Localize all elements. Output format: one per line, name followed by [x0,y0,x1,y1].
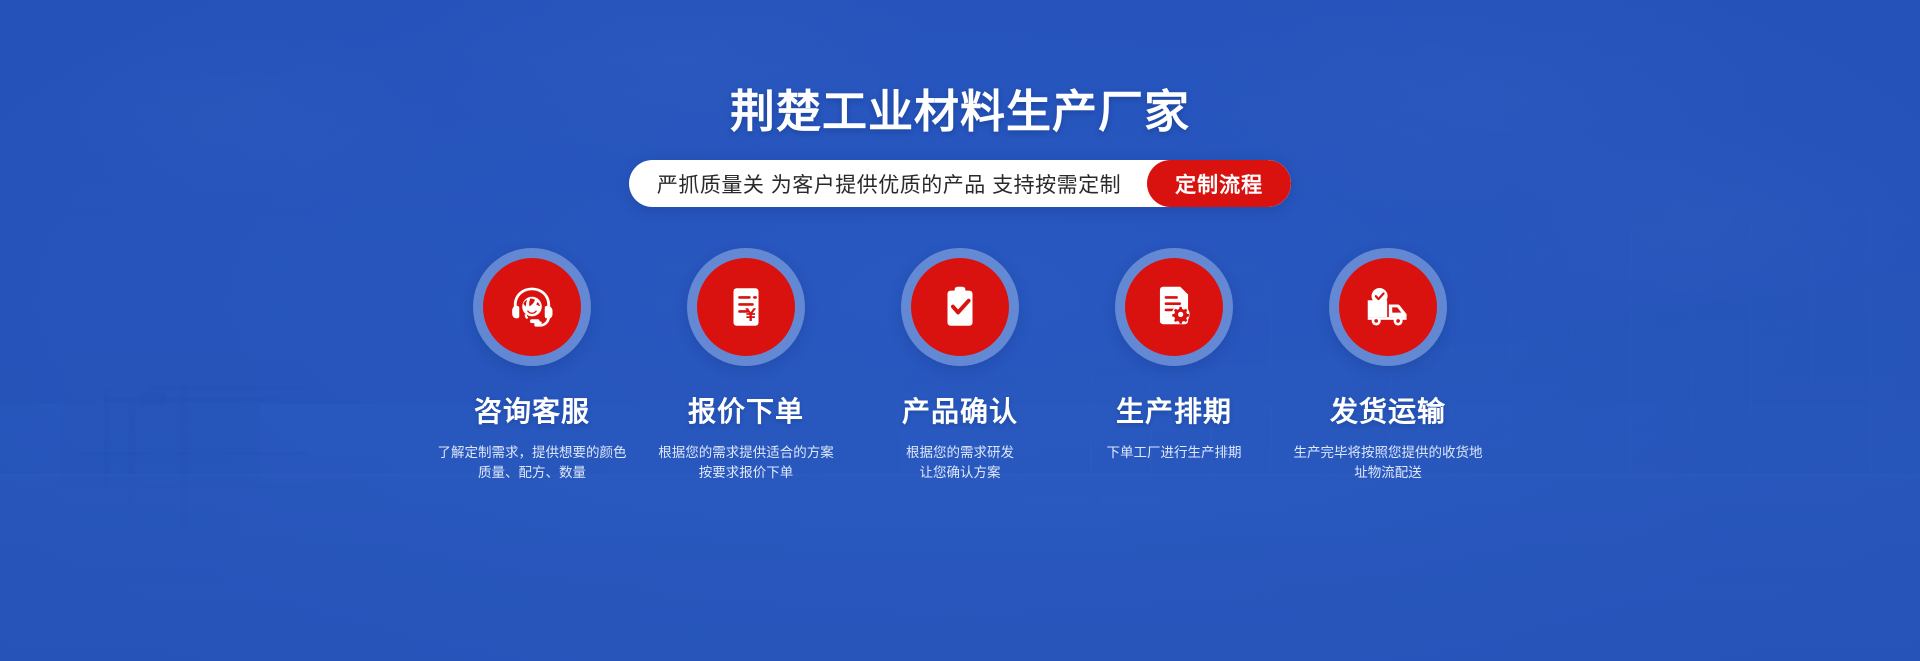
page-title: 荆楚工业材料生产厂家 [0,89,1920,134]
tagline-pill: 严抓质量关 为客户提供优质的产品 支持按需定制 定制流程 [629,160,1291,207]
step-icon-ring [1115,248,1233,366]
step-item-consult[interactable]: 咨询客服 了解定制需求，提供想要的颜色质量、配方、数量 [425,248,639,483]
promo-banner: 荆楚工业材料生产厂家 严抓质量关 为客户提供优质的产品 支持按需定制 定制流程 [0,0,1920,661]
step-item-confirm[interactable]: 产品确认 根据您的需求研发让您确认方案 [853,248,1067,483]
step-desc: 下单工厂进行生产排期 [1072,443,1277,463]
step-title: 生产排期 [1116,390,1232,430]
step-icon-ring [687,248,805,366]
step-icon-ring [473,248,591,366]
process-steps: 咨询客服 了解定制需求，提供想要的颜色质量、配方、数量 [0,248,1920,483]
step-desc: 根据您的需求提供适合的方案按要求报价下单 [644,443,849,483]
step-title: 发货运输 [1330,390,1446,430]
step-icon-disc [911,258,1009,356]
step-item-schedule[interactable]: 生产排期 下单工厂进行生产排期 [1067,248,1281,483]
step-desc: 根据您的需求研发让您确认方案 [858,443,1063,483]
step-icon-ring [901,248,1019,366]
tagline-bar: 严抓质量关 为客户提供优质的产品 支持按需定制 定制流程 [0,160,1920,207]
tagline-text: 严抓质量关 为客户提供优质的产品 支持按需定制 [629,160,1147,207]
step-title: 报价下单 [688,390,804,430]
step-icon-disc [1339,258,1437,356]
headset-support-icon [505,280,559,334]
step-icon-disc [697,258,795,356]
step-desc: 生产完毕将按照您提供的收货地址物流配送 [1286,443,1491,483]
step-icon-ring [1329,248,1447,366]
step-title: 产品确认 [902,390,1018,430]
invoice-yuan-icon [721,282,771,332]
step-icon-disc [483,258,581,356]
step-desc: 了解定制需求，提供想要的颜色质量、配方、数量 [430,443,635,483]
step-icon-disc [1125,258,1223,356]
delivery-truck-check-icon [1361,280,1415,334]
step-title: 咨询客服 [474,390,590,430]
step-item-quote[interactable]: 报价下单 根据您的需求提供适合的方案按要求报价下单 [639,248,853,483]
custom-process-button[interactable]: 定制流程 [1147,160,1291,207]
step-item-delivery[interactable]: 发货运输 生产完毕将按照您提供的收货地址物流配送 [1281,248,1495,483]
clipboard-check-icon [935,282,985,332]
document-gear-icon [1149,282,1199,332]
